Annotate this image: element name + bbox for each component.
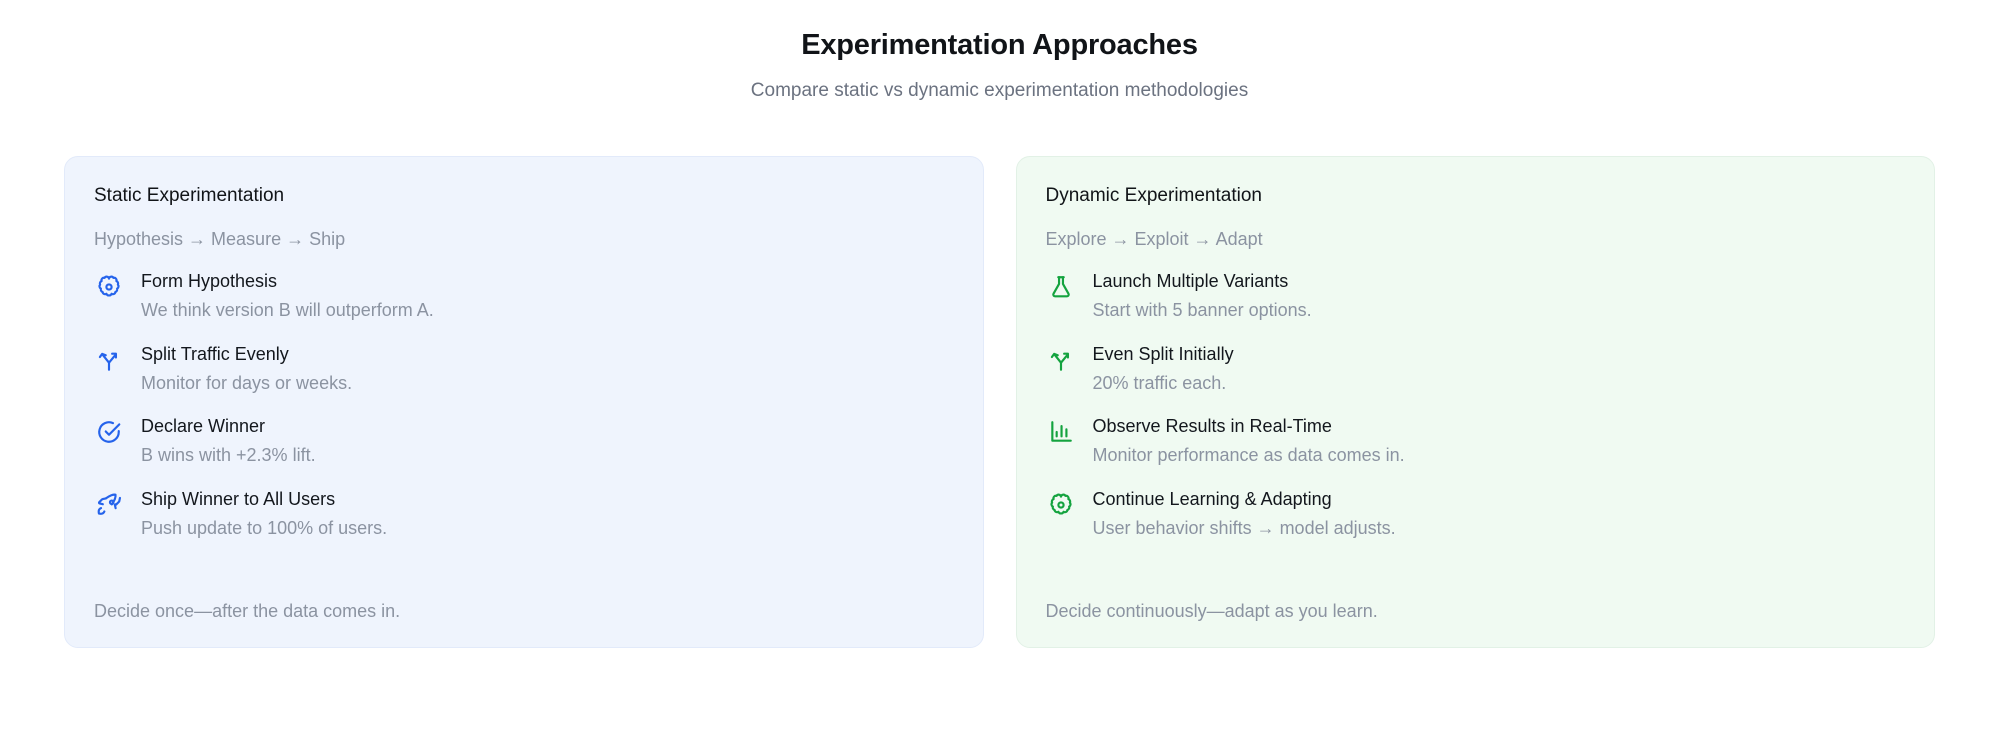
split-arrows-icon [94, 345, 124, 375]
step-title: Split Traffic Evenly [141, 343, 352, 367]
step-item: Form Hypothesis We think version B will … [94, 270, 954, 323]
step-item: Declare Winner B wins with +2.3% lift. [94, 415, 954, 468]
step-description: Start with 5 banner options. [1093, 299, 1312, 323]
step-item: Launch Multiple Variants Start with 5 ba… [1046, 270, 1906, 323]
step-item: Split Traffic Evenly Monitor for days or… [94, 343, 954, 396]
step-description: 20% traffic each. [1093, 372, 1234, 396]
rocket-icon [94, 490, 124, 520]
step-description: B wins with +2.3% lift. [141, 444, 316, 468]
steps-list-dynamic: Launch Multiple Variants Start with 5 ba… [1046, 270, 1906, 577]
step-item: Observe Results in Real-Time Monitor per… [1046, 415, 1906, 468]
step-description: Monitor performance as data comes in. [1093, 444, 1405, 468]
step-title: Ship Winner to All Users [141, 488, 387, 512]
step-title: Observe Results in Real-Time [1093, 415, 1405, 439]
flask-icon [1046, 272, 1076, 302]
comparison-cards: Static Experimentation Hypothesis → Meas… [0, 156, 1999, 648]
step-description: Push update to 100% of users. [141, 517, 387, 541]
check-circle-icon [94, 417, 124, 447]
steps-list-static: Form Hypothesis We think version B will … [94, 270, 954, 577]
experimentation-approaches-page: Experimentation Approaches Compare stati… [0, 0, 1999, 754]
page-header: Experimentation Approaches Compare stati… [0, 0, 1999, 103]
step-item: Continue Learning & Adapting User behavi… [1046, 488, 1906, 541]
brain-cog-icon [1046, 490, 1076, 520]
split-arrows-icon [1046, 345, 1076, 375]
brain-cog-icon [94, 272, 124, 302]
page-title: Experimentation Approaches [0, 27, 1999, 65]
card-flow-dynamic: Explore → Exploit → Adapt [1046, 227, 1906, 251]
card-footer-dynamic: Decide continuously—adapt as you learn. [1046, 599, 1906, 623]
step-title: Declare Winner [141, 415, 316, 439]
step-item: Ship Winner to All Users Push update to … [94, 488, 954, 541]
step-title: Even Split Initially [1093, 343, 1234, 367]
step-item: Even Split Initially 20% traffic each. [1046, 343, 1906, 396]
step-description: We think version B will outperform A. [141, 299, 434, 323]
step-description: User behavior shifts → model adjusts. [1093, 517, 1396, 541]
card-title-static: Static Experimentation [94, 184, 954, 209]
card-footer-static: Decide once—after the data comes in. [94, 599, 954, 623]
page-subtitle: Compare static vs dynamic experimentatio… [0, 78, 1999, 104]
bar-chart-icon [1046, 417, 1076, 447]
static-experimentation-card: Static Experimentation Hypothesis → Meas… [64, 156, 984, 648]
step-title: Continue Learning & Adapting [1093, 488, 1396, 512]
dynamic-experimentation-card: Dynamic Experimentation Explore → Exploi… [1016, 156, 1936, 648]
step-title: Launch Multiple Variants [1093, 270, 1312, 294]
step-title: Form Hypothesis [141, 270, 434, 294]
card-title-dynamic: Dynamic Experimentation [1046, 184, 1906, 209]
step-description: Monitor for days or weeks. [141, 372, 352, 396]
card-flow-static: Hypothesis → Measure → Ship [94, 227, 954, 251]
